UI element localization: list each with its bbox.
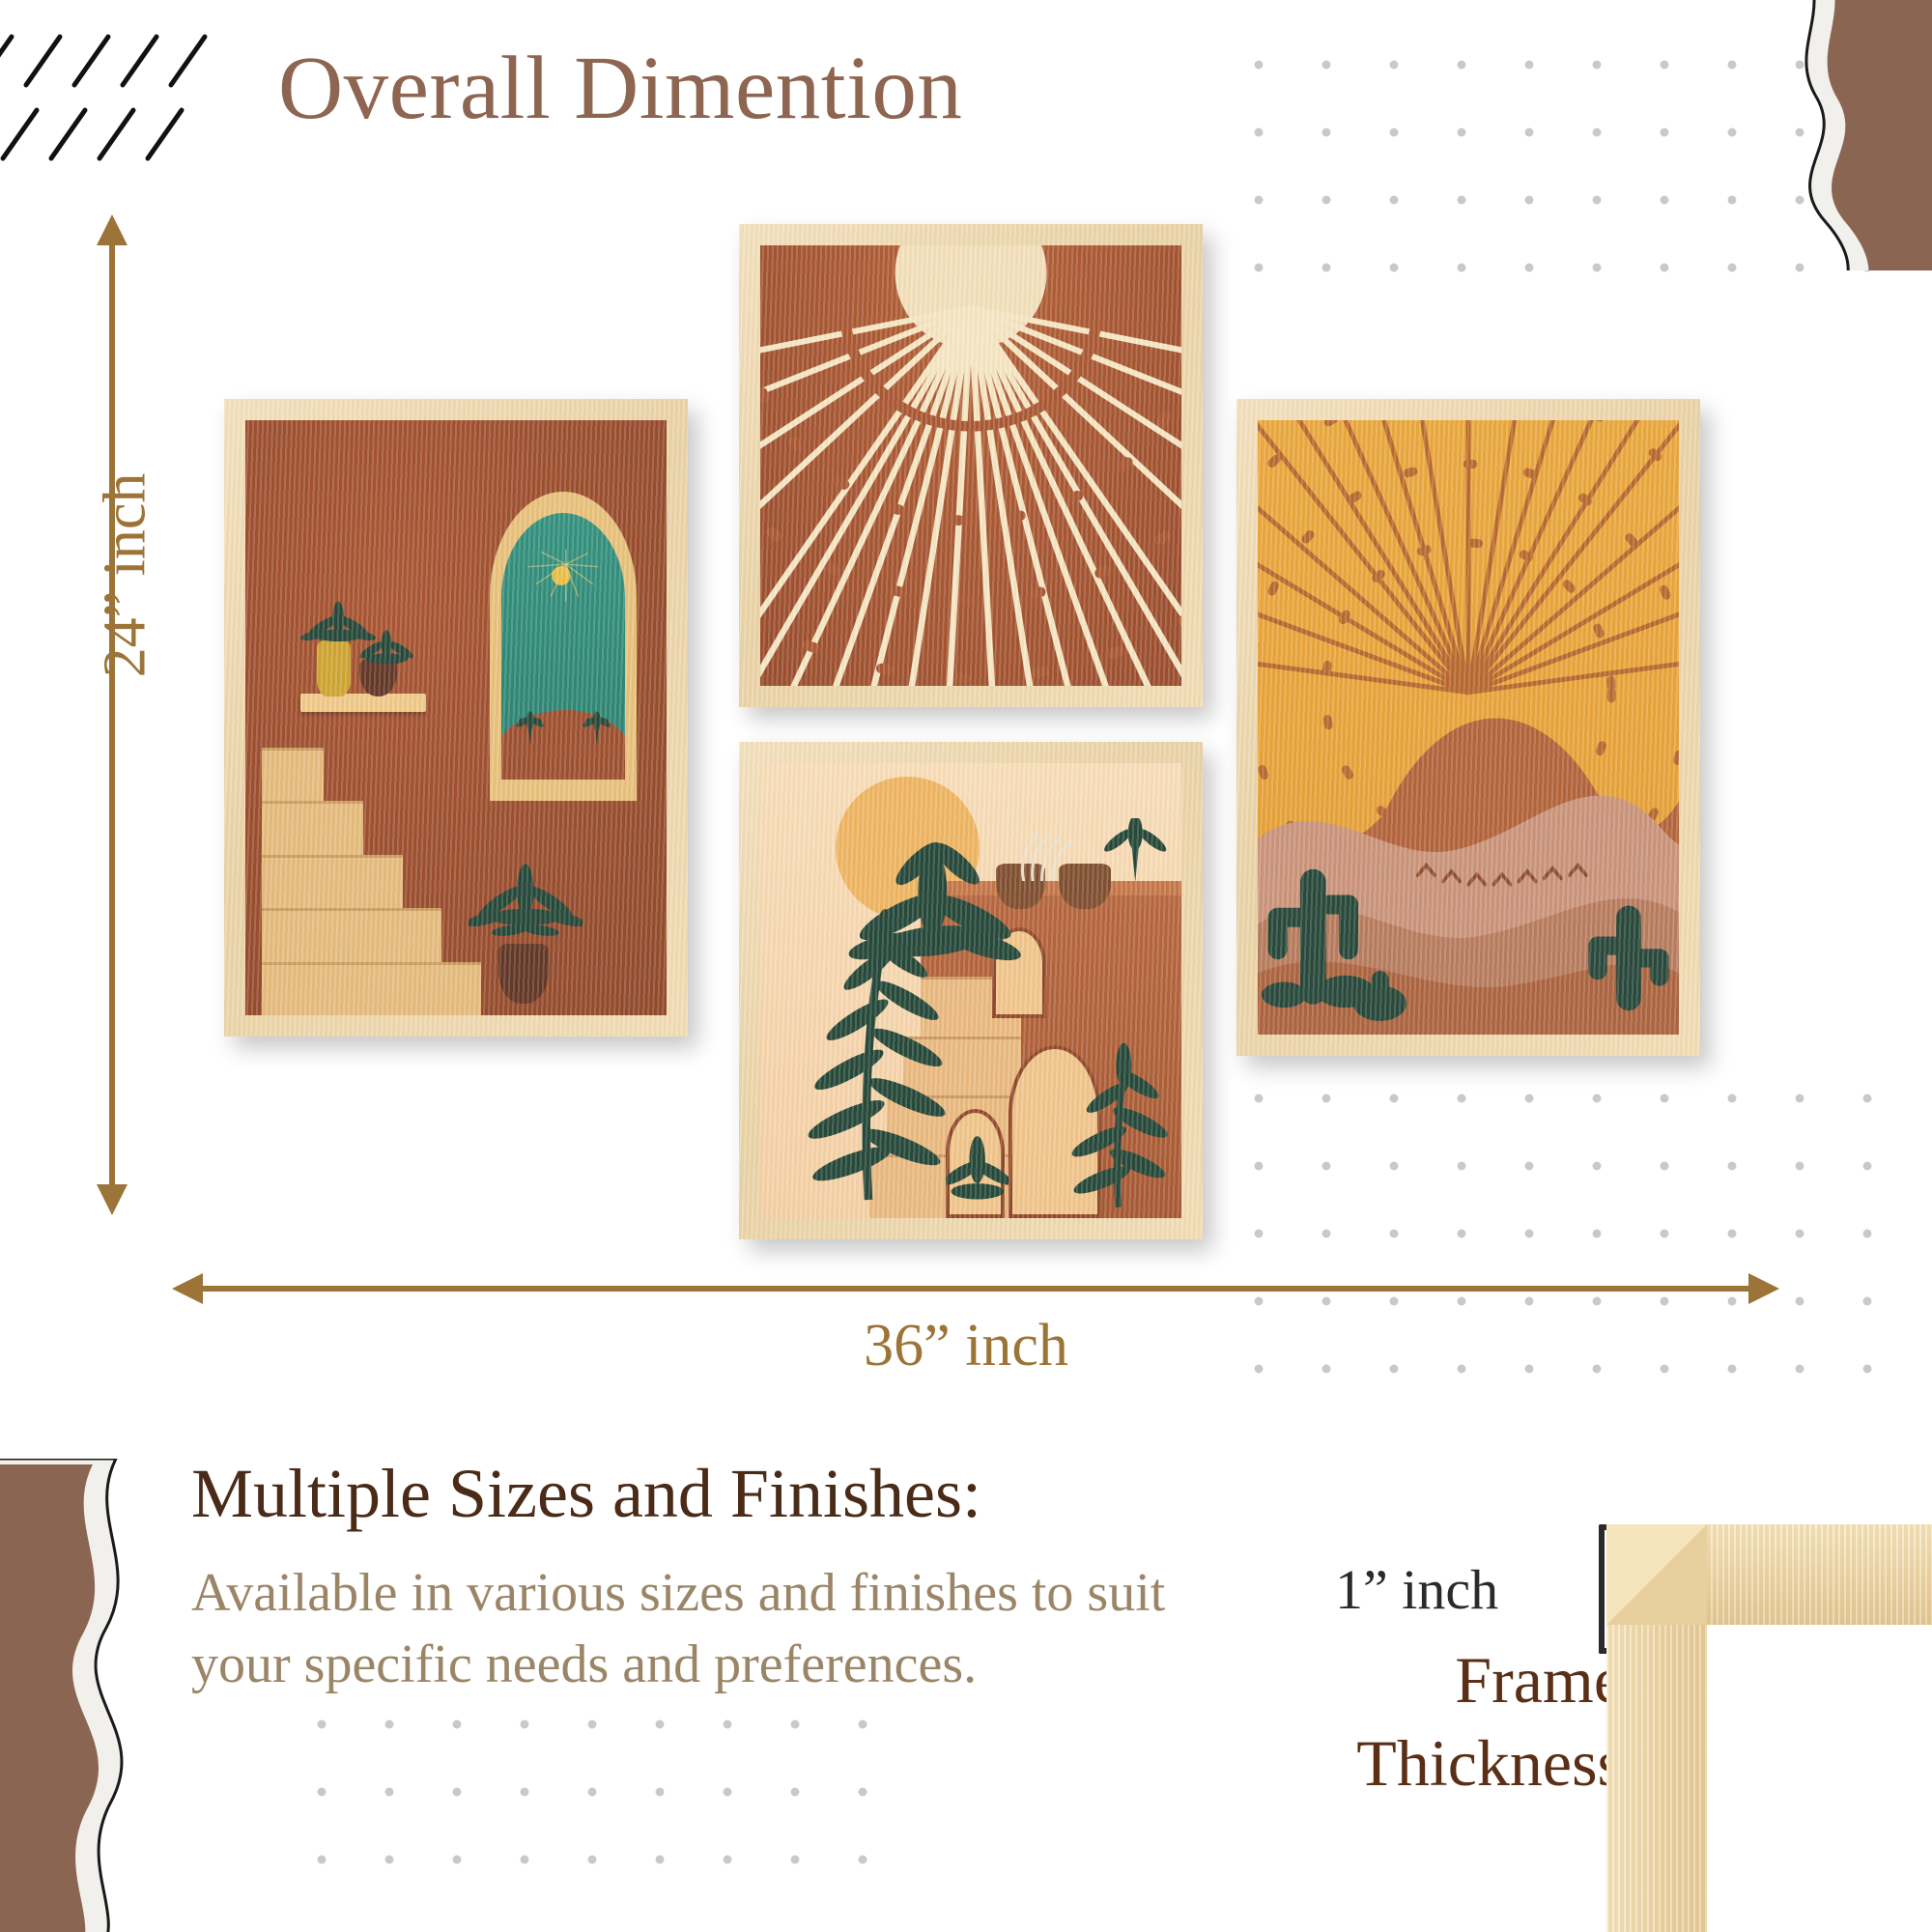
artwork-frame-left [224, 399, 688, 1037]
blob-top-right-decor [1700, 0, 1932, 270]
artwork-left-terracotta-arch [245, 420, 667, 1015]
artwork-bottom-arches-plants [760, 763, 1181, 1218]
arched-window [490, 492, 638, 801]
cactus-small-icon [1350, 949, 1409, 1035]
dimension-line-horizontal [198, 1286, 1753, 1292]
artwork-frame-top-center [739, 224, 1203, 707]
dot-grid-top-right [1215, 21, 1891, 301]
frame-corner-sample [1606, 1524, 1932, 1932]
potted-plant-right-icon [1064, 1027, 1173, 1218]
features-body-text: Available in various sizes and finishes … [191, 1557, 1264, 1701]
dimension-line-vertical [109, 240, 115, 1191]
height-dimension-label: 24” inch [92, 440, 160, 711]
wall-shelf [300, 694, 427, 711]
infographic-canvas: Overall Dimention 24” inch 36” inch [0, 0, 1932, 1932]
dot-grid-bottom-left [278, 1681, 896, 1893]
window-palm-left-icon [509, 678, 552, 774]
artwork-frame-right [1236, 399, 1700, 1056]
dimension-arrow-down-icon [97, 1184, 128, 1215]
sunburst-rays [760, 245, 1181, 686]
floor-palm-plant-icon [469, 831, 582, 962]
width-dimension-label: 36” inch [0, 1312, 1932, 1380]
artwork-top-sunburst [760, 245, 1181, 686]
window-glass [501, 513, 625, 779]
dimension-arrow-right-icon [1748, 1273, 1779, 1304]
window-palm-right-icon [576, 678, 618, 774]
cactus-right-icon [1582, 875, 1675, 1035]
doorway-shrub-icon [946, 1118, 1009, 1218]
shelf-plant-right-icon [351, 611, 422, 682]
artwork-desert-sunrise [1258, 420, 1679, 1035]
features-heading: Multiple Sizes and Finishes: [191, 1454, 981, 1534]
frame-thickness-caption-line2: Thickness [1207, 1725, 1623, 1802]
artwork-frame-bottom-center [739, 742, 1203, 1239]
frame-thickness-caption-line1: Frame [1343, 1642, 1623, 1719]
hatch-lines-decor [0, 27, 209, 182]
leafy-bush-icon [836, 800, 1030, 1000]
frame-corner-miter-joint [1606, 1524, 1707, 1625]
rooftop-fern-icon [1097, 818, 1173, 882]
frame-thickness-measure-label: 1” inch [1335, 1557, 1498, 1622]
page-title: Overall Dimention [278, 37, 962, 140]
staircase [262, 748, 481, 1015]
